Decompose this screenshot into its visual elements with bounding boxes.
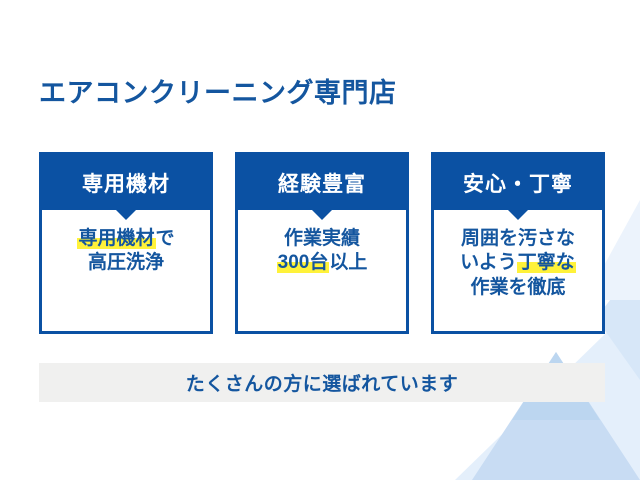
highlight-text: 300台 xyxy=(277,252,330,273)
bottom-banner: たくさんの方に選ばれています xyxy=(39,363,605,402)
feature-card-3-header-label: 安心・丁寧 xyxy=(463,168,573,198)
feature-card-1-header: 専用機材 xyxy=(42,155,210,210)
feature-card-2-line-2: 300台以上 xyxy=(277,251,368,275)
triangle-notch-icon xyxy=(116,210,136,220)
feature-card-3-line-2: いよう丁寧な xyxy=(460,251,576,275)
feature-card-1-line-1: 専用機材で xyxy=(77,227,174,251)
triangle-notch-icon xyxy=(508,210,528,220)
feature-card-2[interactable]: 経験豊富 作業実績 300台以上 xyxy=(235,152,409,334)
feature-card-1-line-2: 高圧洗浄 xyxy=(88,251,164,275)
highlight-text: 丁寧な xyxy=(517,252,576,273)
feature-card-3-header: 安心・丁寧 xyxy=(434,155,602,210)
bottom-banner-text: たくさんの方に選ばれています xyxy=(186,369,458,396)
feature-card-2-body: 作業実績 300台以上 xyxy=(238,210,406,331)
feature-card-1-header-label: 専用機材 xyxy=(82,168,170,198)
slide-canvas: エアコンクリーニング専門店 専用機材 専用機材で 高圧洗浄 経験豊富 作業実績 … xyxy=(0,0,640,480)
feature-card-2-line-1: 作業実績 xyxy=(284,227,360,251)
feature-card-3-body: 周囲を汚さな いよう丁寧な 作業を徹底 xyxy=(434,210,602,331)
highlight-text: 専用機材 xyxy=(77,228,155,249)
feature-card-3[interactable]: 安心・丁寧 周囲を汚さな いよう丁寧な 作業を徹底 xyxy=(431,152,605,334)
feature-card-2-header-label: 経験豊富 xyxy=(278,168,366,198)
feature-card-1-body: 専用機材で 高圧洗浄 xyxy=(42,210,210,331)
triangle-notch-icon xyxy=(312,210,332,220)
feature-card-1[interactable]: 専用機材 専用機材で 高圧洗浄 xyxy=(39,152,213,334)
feature-card-3-line-1: 周囲を汚さな xyxy=(461,227,575,251)
feature-card-2-header: 経験豊富 xyxy=(238,155,406,210)
feature-card-group: 専用機材 専用機材で 高圧洗浄 経験豊富 作業実績 300台以上 安心・丁寧 xyxy=(39,152,605,334)
feature-card-3-line-3: 作業を徹底 xyxy=(470,276,565,300)
page-title: エアコンクリーニング専門店 xyxy=(39,79,397,109)
